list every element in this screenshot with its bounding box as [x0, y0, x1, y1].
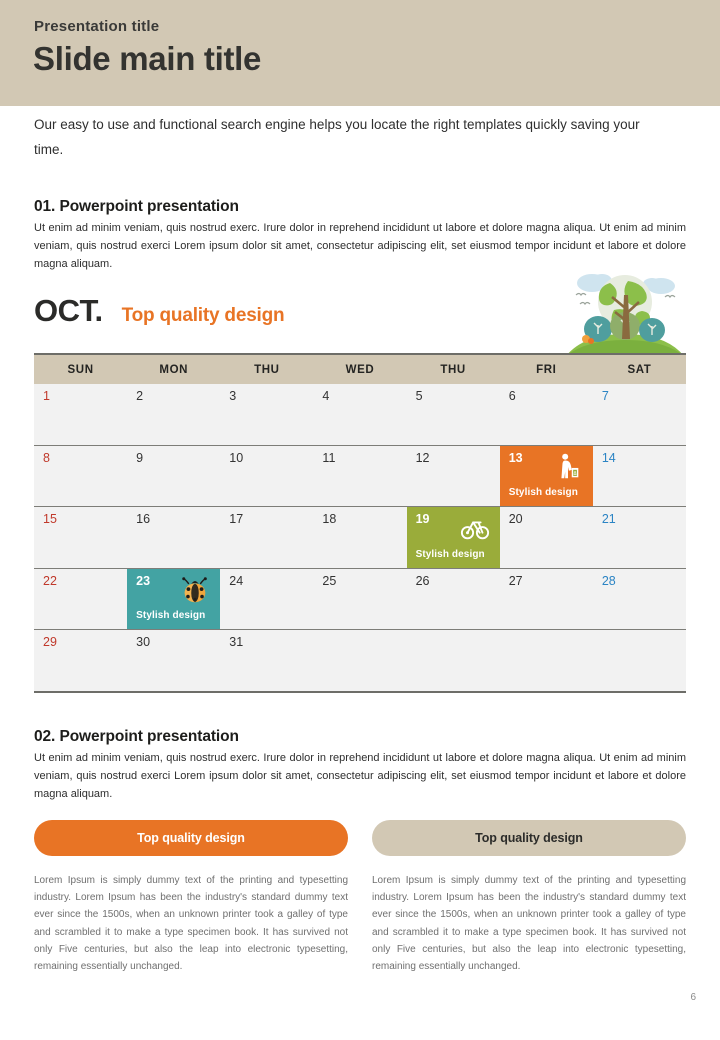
calendar-day-21[interactable]: 21 [593, 507, 686, 568]
calendar-day-6[interactable]: 6 [500, 384, 593, 445]
calendar-month-tagline: Top quality design [122, 305, 285, 327]
presentation-title-eyebrow: Presentation title [34, 18, 159, 35]
bottom-cards: Top quality designLorem Ipsum is simply … [34, 820, 686, 975]
calendar-day-empty [500, 630, 593, 691]
calendar-day-number: 15 [43, 512, 57, 526]
calendar-day-number: 11 [322, 451, 335, 465]
calendar-day-number: 5 [416, 389, 423, 403]
calendar-day-26[interactable]: 26 [407, 569, 500, 630]
calendar-day-12[interactable]: 12 [407, 446, 500, 507]
ladybug-icon [180, 575, 210, 605]
calendar-day-number: 1 [43, 389, 50, 403]
calendar-day-3[interactable]: 3 [220, 384, 313, 445]
calendar-day-5[interactable]: 5 [407, 384, 500, 445]
calendar-day-number: 25 [322, 574, 336, 588]
section-01-body: Ut enim ad minim veniam, quis nostrud ex… [34, 220, 686, 273]
calendar-day-24[interactable]: 24 [220, 569, 313, 630]
calendar-day-number: 6 [509, 389, 516, 403]
calendar-day-number: 4 [322, 389, 329, 403]
calendar-week-row: 2223Stylish design2425262728 [34, 569, 686, 631]
calendar-day-18[interactable]: 18 [313, 507, 406, 568]
calendar-body[interactable]: 12345678910111213Stylish design141516171… [34, 384, 686, 691]
calendar-weekday-3: WED [313, 355, 406, 384]
calendar-day-19[interactable]: 19Stylish design [407, 507, 500, 568]
calendar[interactable]: SUNMONTHUWEDTHUFRISAT 12345678910111213S… [34, 353, 686, 693]
content-card-2: Top quality designLorem Ipsum is simply … [372, 820, 686, 975]
calendar-day-31[interactable]: 31 [220, 630, 313, 691]
calendar-day-number: 7 [602, 389, 609, 403]
calendar-day-number: 19 [416, 512, 430, 526]
calendar-week-row: 8910111213Stylish design14 [34, 446, 686, 508]
calendar-day-number: 10 [229, 451, 243, 465]
calendar-day-20[interactable]: 20 [500, 507, 593, 568]
recycling-person-icon [553, 452, 583, 482]
calendar-day-11[interactable]: 11 [313, 446, 406, 507]
calendar-day-17[interactable]: 17 [220, 507, 313, 568]
calendar-day-29[interactable]: 29 [34, 630, 127, 691]
calendar-day-number: 21 [602, 512, 616, 526]
calendar-day-number: 2 [136, 389, 143, 403]
calendar-day-1[interactable]: 1 [34, 384, 127, 445]
calendar-day-number: 17 [229, 512, 243, 526]
calendar-day-empty [407, 630, 500, 691]
section-01-title: 01. Powerpoint presentation [34, 198, 239, 216]
slide-header-band: Presentation title Slide main title [0, 0, 720, 106]
calendar-day-9[interactable]: 9 [127, 446, 220, 507]
section-02-title: 02. Powerpoint presentation [34, 728, 239, 746]
calendar-day-number: 18 [322, 512, 336, 526]
calendar-day-number: 3 [229, 389, 236, 403]
calendar-week-row: 293031 [34, 630, 686, 691]
calendar-weekday-header: SUNMONTHUWEDTHUFRISAT [34, 355, 686, 384]
eco-tree-globe-illustration [566, 267, 684, 356]
calendar-weekday-6: SAT [593, 355, 686, 384]
top-quality-design-button-2[interactable]: Top quality design [372, 820, 686, 856]
calendar-day-28[interactable]: 28 [593, 569, 686, 630]
calendar-day-number: 26 [416, 574, 430, 588]
calendar-weekday-5: FRI [500, 355, 593, 384]
top-quality-design-button-1[interactable]: Top quality design [34, 820, 348, 856]
calendar-event-label: Stylish design [136, 610, 205, 621]
calendar-day-7[interactable]: 7 [593, 384, 686, 445]
slide-main-title: Slide main title [33, 40, 261, 78]
calendar-day-empty [313, 630, 406, 691]
calendar-day-4[interactable]: 4 [313, 384, 406, 445]
calendar-month-label: OCT. [34, 293, 103, 329]
calendar-weekday-1: MON [127, 355, 220, 384]
calendar-day-number: 20 [509, 512, 523, 526]
calendar-weekday-4: THU [407, 355, 500, 384]
calendar-week-row: 1516171819Stylish design2021 [34, 507, 686, 569]
calendar-day-30[interactable]: 30 [127, 630, 220, 691]
calendar-day-2[interactable]: 2 [127, 384, 220, 445]
calendar-weekday-2: THU [220, 355, 313, 384]
calendar-day-16[interactable]: 16 [127, 507, 220, 568]
card-body-text-1: Lorem Ipsum is simply dummy text of the … [34, 872, 348, 975]
calendar-day-number: 24 [229, 574, 243, 588]
calendar-day-number: 12 [416, 451, 430, 465]
calendar-day-8[interactable]: 8 [34, 446, 127, 507]
calendar-day-number: 22 [43, 574, 57, 588]
calendar-day-number: 29 [43, 635, 57, 649]
calendar-day-number: 27 [509, 574, 523, 588]
calendar-event-label: Stylish design [509, 487, 578, 498]
calendar-day-number: 9 [136, 451, 143, 465]
calendar-day-22[interactable]: 22 [34, 569, 127, 630]
calendar-day-number: 13 [509, 451, 523, 465]
calendar-event-label: Stylish design [416, 549, 485, 560]
calendar-month-heading: OCT. Top quality design [34, 293, 284, 329]
bicycle-icon [460, 513, 490, 543]
calendar-day-13[interactable]: 13Stylish design [500, 446, 593, 507]
calendar-day-15[interactable]: 15 [34, 507, 127, 568]
calendar-day-number: 16 [136, 512, 150, 526]
calendar-day-number: 28 [602, 574, 616, 588]
section-02-body: Ut enim ad minim veniam, quis nostrud ex… [34, 750, 686, 803]
calendar-day-number: 14 [602, 451, 616, 465]
calendar-week-row: 1234567 [34, 384, 686, 446]
content-card-1: Top quality designLorem Ipsum is simply … [34, 820, 348, 975]
intro-paragraph: Our easy to use and functional search en… [34, 113, 664, 163]
calendar-day-14[interactable]: 14 [593, 446, 686, 507]
calendar-day-25[interactable]: 25 [313, 569, 406, 630]
calendar-day-number: 8 [43, 451, 50, 465]
card-body-text-2: Lorem Ipsum is simply dummy text of the … [372, 872, 686, 975]
calendar-day-10[interactable]: 10 [220, 446, 313, 507]
page-number: 6 [690, 992, 696, 1003]
calendar-day-number: 23 [136, 574, 150, 588]
calendar-day-23[interactable]: 23Stylish design [127, 569, 220, 630]
calendar-day-number: 31 [229, 635, 243, 649]
calendar-weekday-0: SUN [34, 355, 127, 384]
calendar-day-number: 30 [136, 635, 150, 649]
calendar-day-empty [593, 630, 686, 691]
calendar-day-27[interactable]: 27 [500, 569, 593, 630]
